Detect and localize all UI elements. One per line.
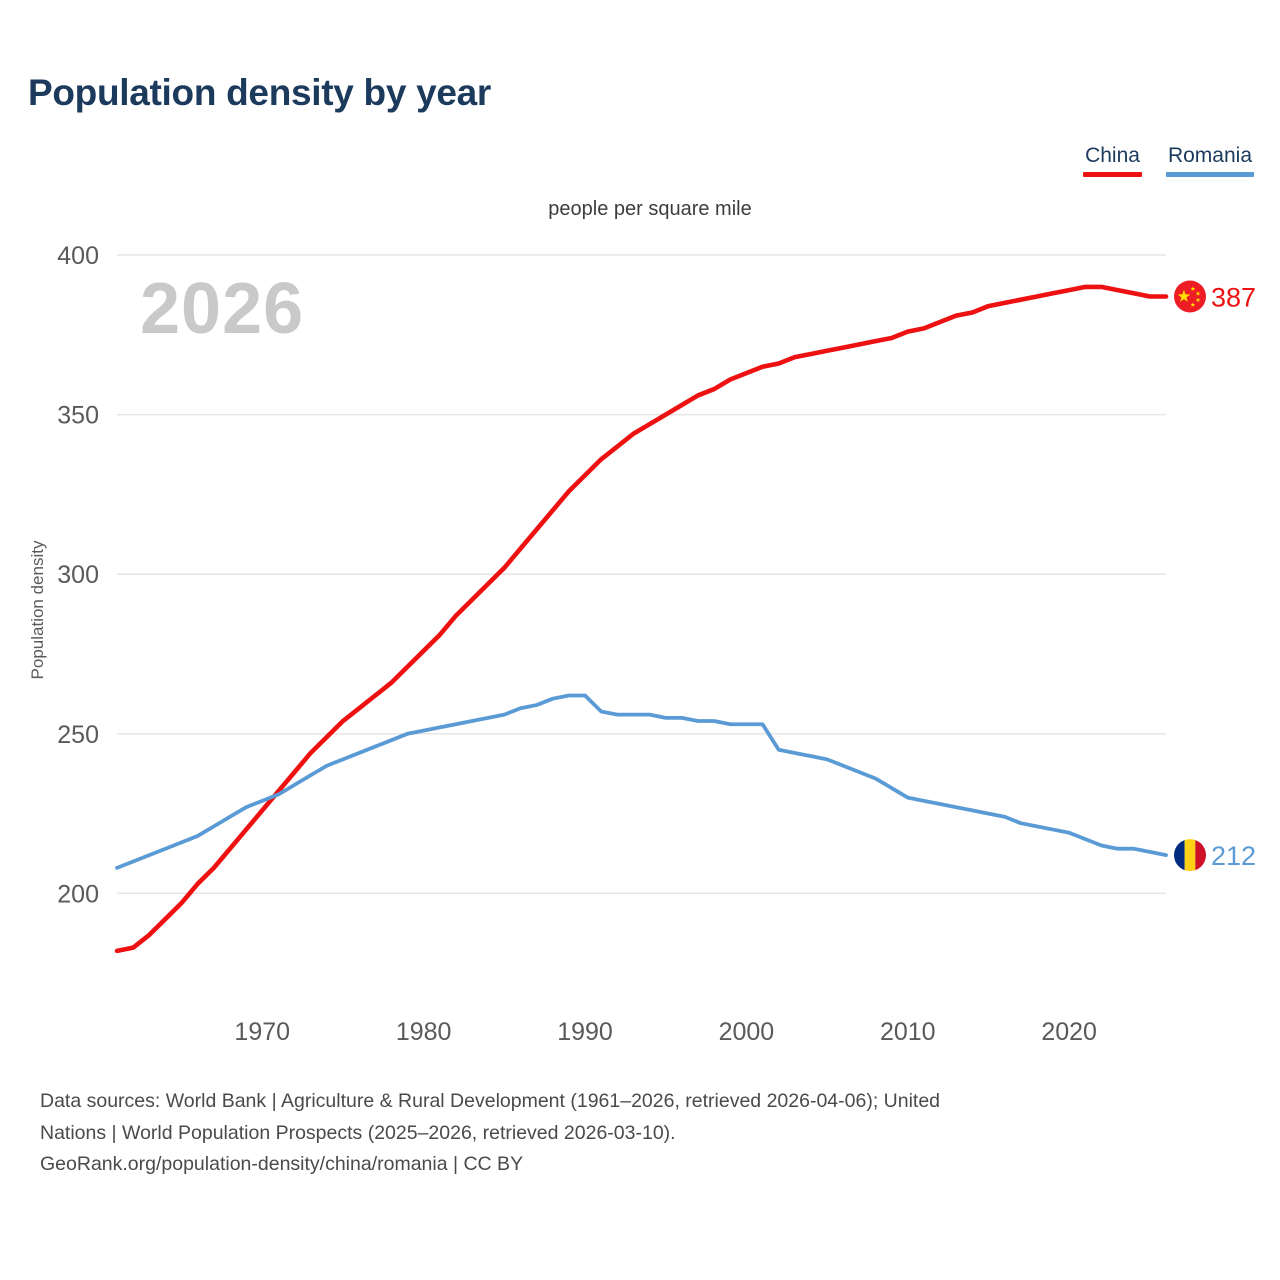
svg-text:2020: 2020 [1041, 1018, 1097, 1046]
svg-text:1980: 1980 [396, 1018, 452, 1046]
chart-page: Population density by year China Romania… [0, 0, 1280, 1280]
data-series-lines [117, 287, 1166, 951]
series-end-markers: 387212 [1174, 280, 1256, 871]
svg-text:250: 250 [57, 721, 99, 749]
footer-credits: Data sources: World Bank | Agriculture &… [40, 1086, 1255, 1181]
svg-text:200: 200 [57, 880, 99, 908]
footer-line-2: Nations | World Population Prospects (20… [40, 1118, 1255, 1150]
svg-text:2010: 2010 [880, 1018, 936, 1046]
svg-text:350: 350 [57, 402, 99, 430]
footer-line-3: GeoRank.org/population-density/china/rom… [40, 1149, 1255, 1181]
svg-text:1970: 1970 [234, 1018, 290, 1046]
footer-line-1: Data sources: World Bank | Agriculture &… [40, 1086, 1255, 1118]
end-value-romania: 212 [1211, 841, 1256, 871]
y-axis-tick-labels: 400350300250200 [57, 242, 99, 908]
x-axis-tick-labels: 197019801990200020102020 [234, 1018, 1097, 1046]
svg-text:2000: 2000 [719, 1018, 775, 1046]
svg-text:1990: 1990 [557, 1018, 613, 1046]
svg-text:400: 400 [57, 242, 99, 270]
svg-text:300: 300 [57, 561, 99, 589]
end-value-china: 387 [1211, 282, 1256, 312]
